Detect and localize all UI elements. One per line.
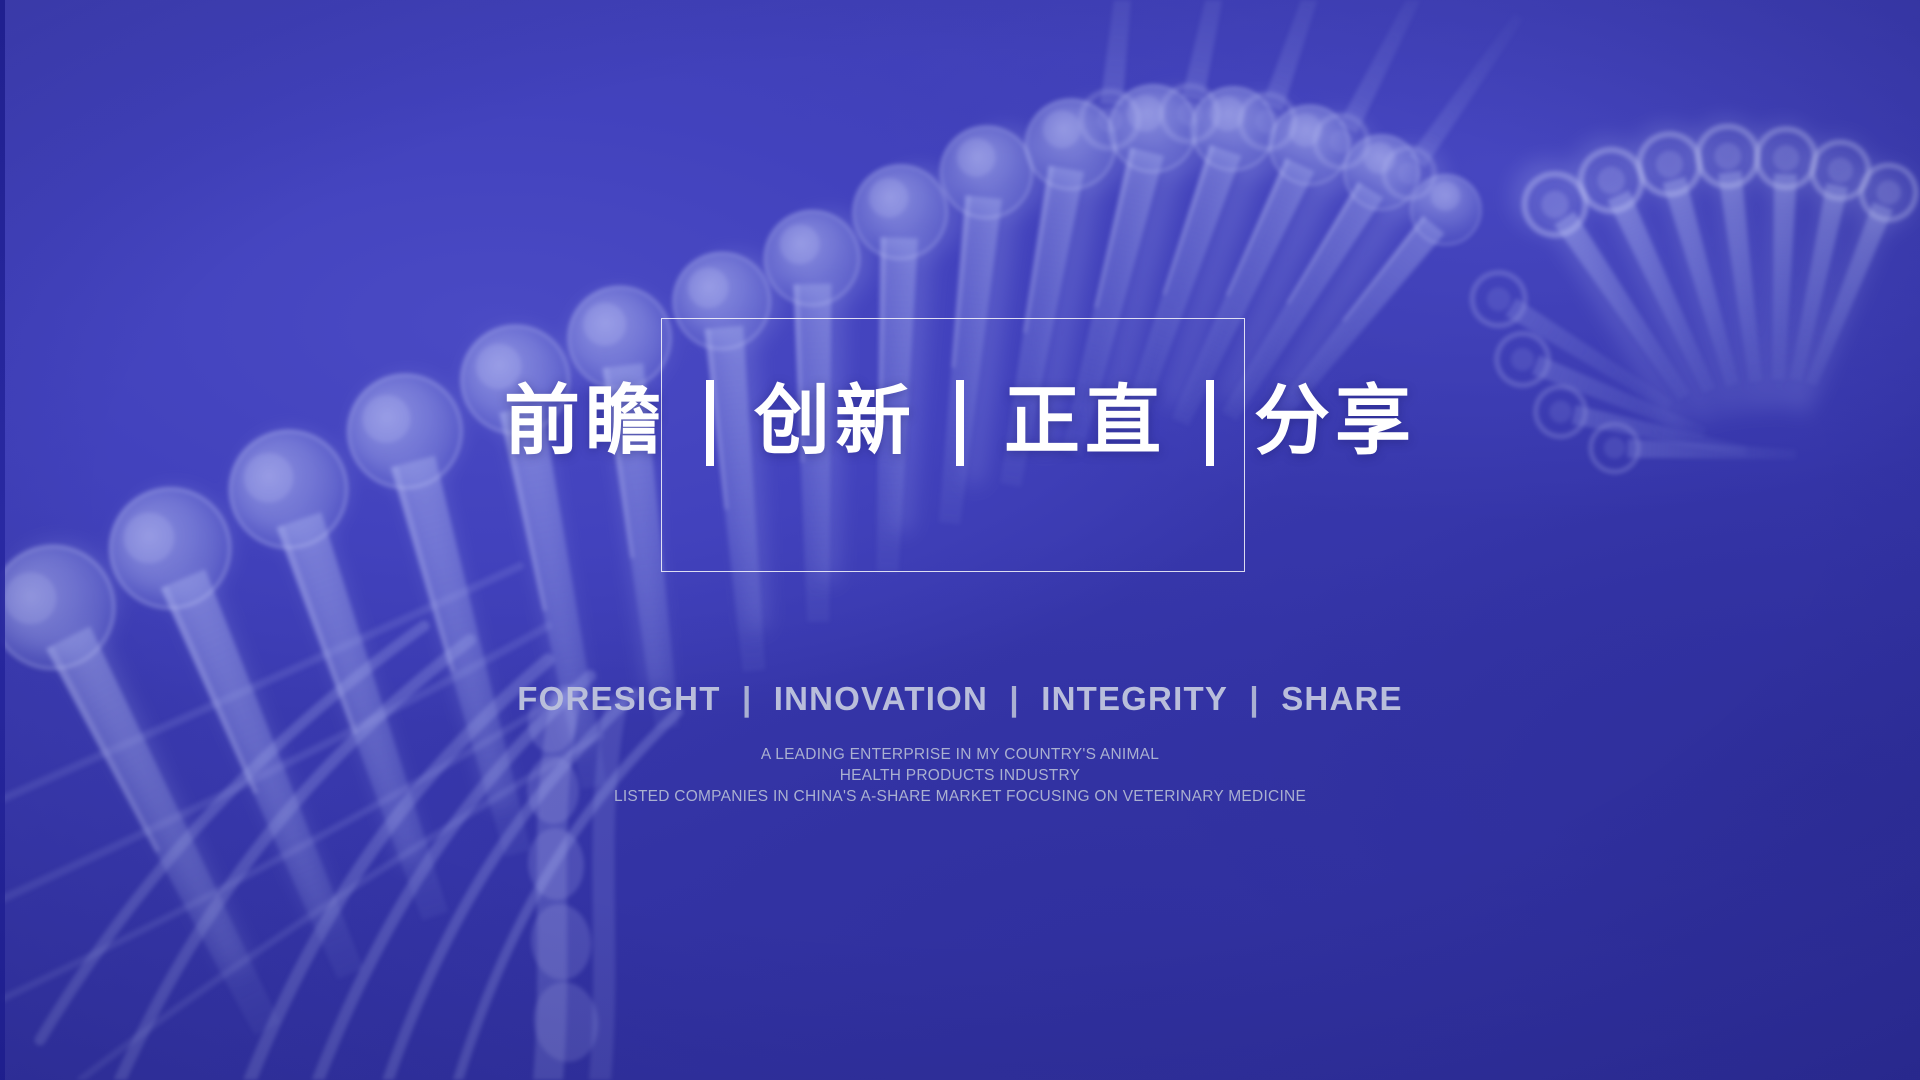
tagline-separator: | [1000, 680, 1028, 717]
tagline-separator: | [733, 680, 761, 717]
tagline-word-integrity: INTEGRITY [1039, 680, 1230, 717]
banner-stage: 前瞻 创新 正直 分享 FORESIGHT | INNOVATION | INT… [0, 0, 1920, 1080]
headline-separator [956, 380, 964, 466]
banner-content: 前瞻 创新 正直 分享 FORESIGHT | INNOVATION | INT… [0, 0, 1920, 1080]
headline-word-foresight: 前瞻 [504, 383, 666, 459]
caption-line-2: HEALTH PRODUCTS INDUSTRY [0, 765, 1920, 786]
headline-word-integrity: 正直 [1004, 383, 1166, 459]
tagline-separator: | [1240, 680, 1268, 717]
tagline-word-foresight: FORESIGHT [515, 680, 722, 717]
headline-word-innovation: 创新 [754, 383, 916, 459]
tagline-values: FORESIGHT | INNOVATION | INTEGRITY | SHA… [0, 680, 1920, 718]
tagline-word-innovation: INNOVATION [772, 680, 990, 717]
caption-line-1: A LEADING ENTERPRISE IN MY COUNTRY'S ANI… [0, 744, 1920, 765]
headline-separator [706, 380, 714, 466]
headline-word-share: 分享 [1254, 383, 1416, 459]
caption-line-3: LISTED COMPANIES IN CHINA'S A-SHARE MARK… [0, 786, 1920, 807]
company-description: A LEADING ENTERPRISE IN MY COUNTRY'S ANI… [0, 744, 1920, 807]
headline-values: 前瞻 创新 正直 分享 [0, 378, 1920, 464]
headline-separator [1206, 380, 1214, 466]
tagline-word-share: SHARE [1279, 680, 1405, 717]
